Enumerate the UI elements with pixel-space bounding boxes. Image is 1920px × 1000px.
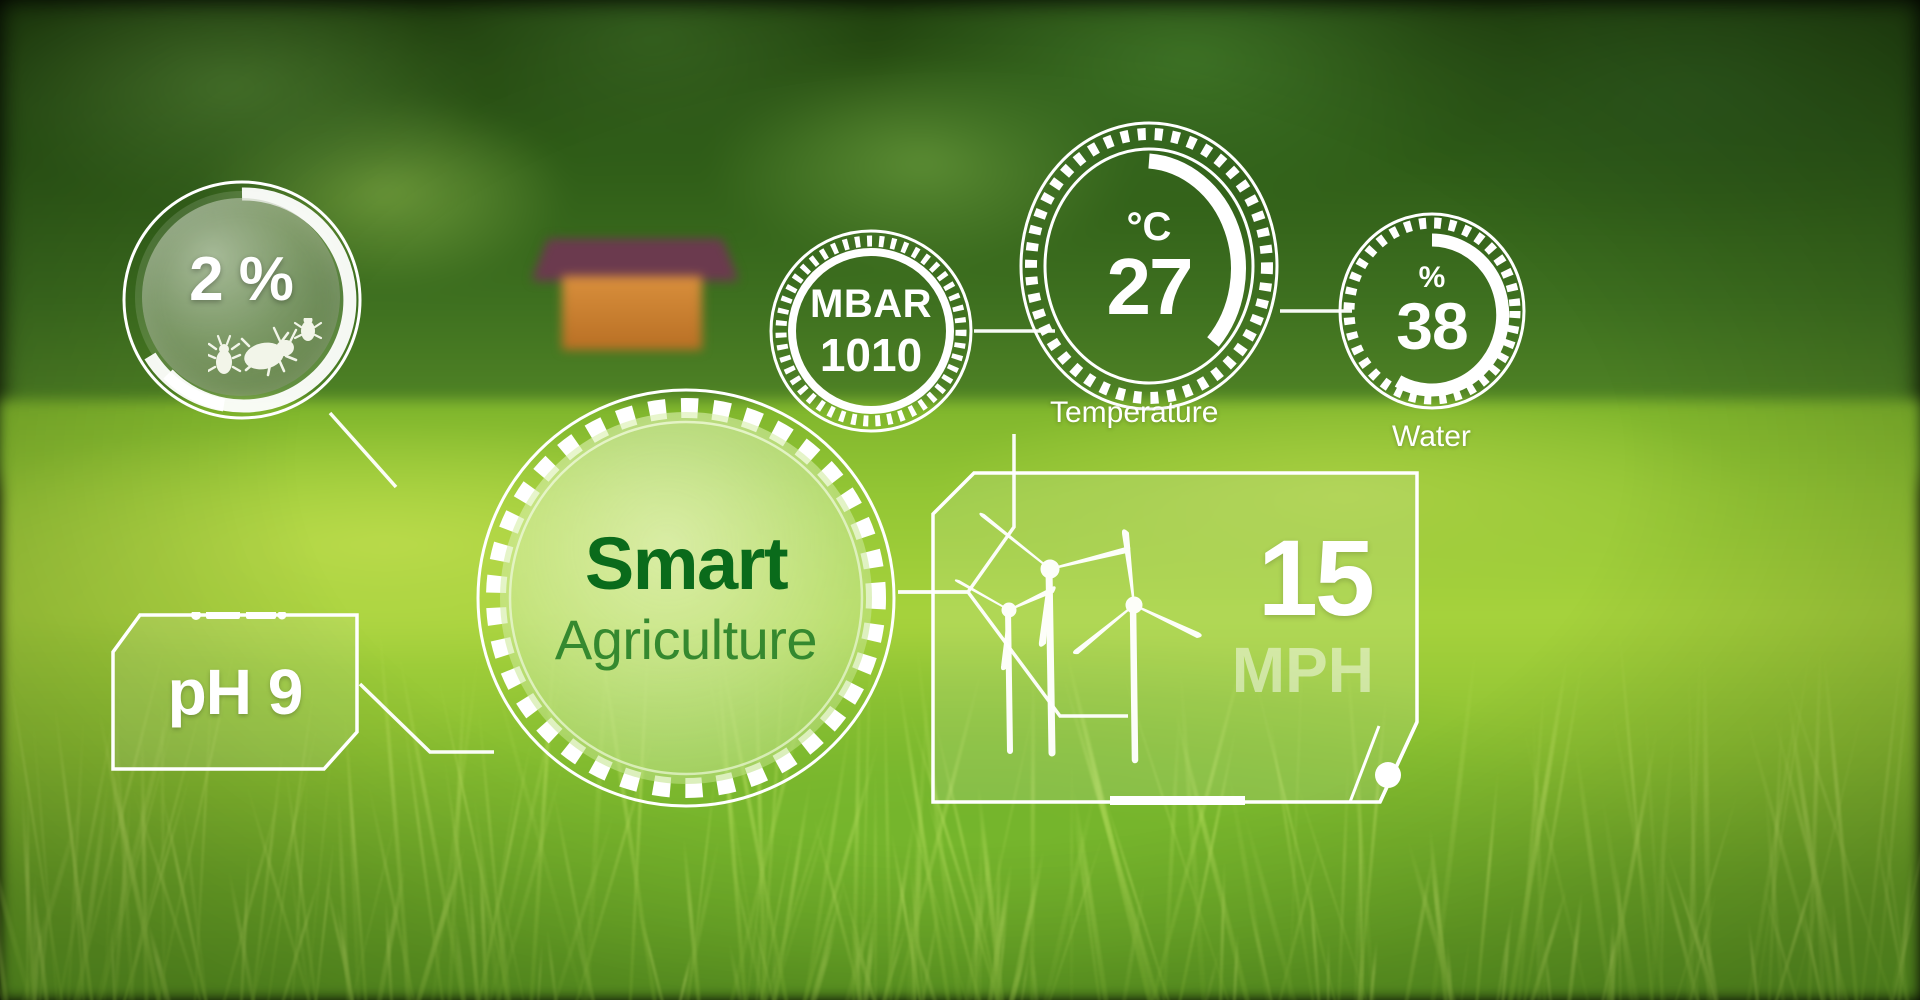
temperature-text: °C 27 (1018, 120, 1280, 412)
temperature-caption: Temperature (1050, 396, 1218, 430)
center-text: Smart Agriculture (500, 412, 872, 784)
temperature-value: 27 (1107, 249, 1192, 325)
water-value: 38 (1396, 293, 1467, 359)
water-text: % 38 (1338, 212, 1526, 410)
wind-value: 15 (1258, 524, 1372, 632)
pressure-label: MBAR (810, 284, 932, 324)
water-widget[interactable]: % 38 (1338, 212, 1526, 410)
ph-value: pH 9 (110, 612, 360, 772)
smart-agriculture-badge[interactable]: Smart Agriculture (470, 382, 902, 814)
wind-widget[interactable]: 15 MPH (930, 470, 1420, 805)
pressure-text: MBAR 1010 (768, 228, 974, 434)
temperature-unit: °C (1127, 207, 1172, 247)
pressure-value: 1010 (820, 332, 922, 378)
center-subtitle: Agriculture (555, 611, 817, 670)
water-caption: Water (1392, 420, 1471, 454)
wind-unit: MPH (1232, 638, 1374, 702)
center-title: Smart (585, 527, 787, 601)
smart-agriculture-hud-scene: 2 % Smart (0, 0, 1920, 1000)
insect-icon (208, 318, 326, 380)
temperature-widget[interactable]: °C 27 (1018, 120, 1280, 412)
pressure-widget[interactable]: MBAR 1010 (768, 228, 974, 434)
pest-widget[interactable]: 2 % (120, 178, 365, 423)
ph-widget[interactable]: pH 9 (110, 612, 360, 772)
